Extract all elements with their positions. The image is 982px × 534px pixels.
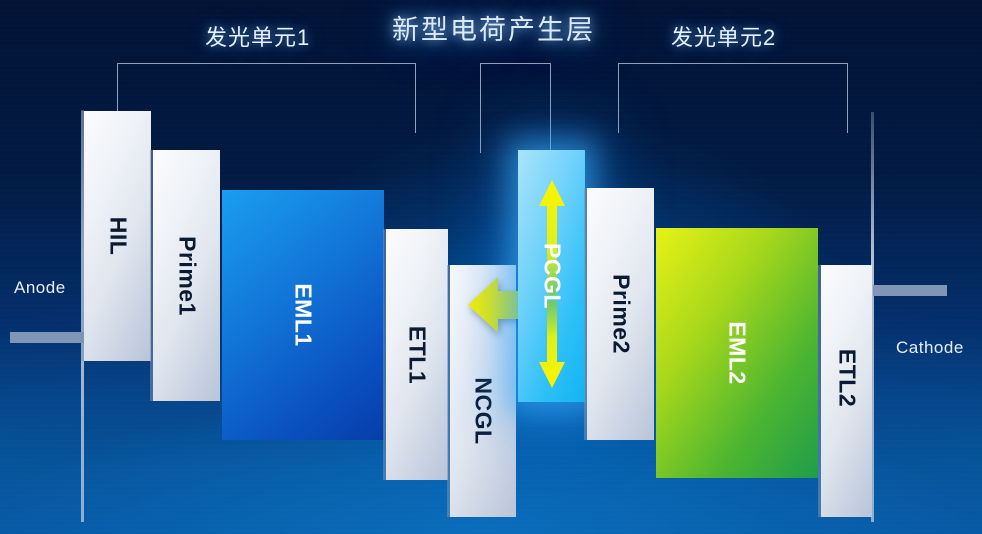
layer-etl2-label: ETL2 [833,349,860,407]
oled-stack-diagram: 发光单元1 新型电荷产生层 发光单元2 Anode Cathode HIL Pr… [0,0,982,534]
layer-eml1[interactable]: EML1 [222,190,384,440]
arrow-down-icon [538,300,566,388]
bracket-charge-generation-layer [480,63,551,153]
bracket-unit-2 [618,63,848,133]
layer-hil[interactable]: HIL [84,111,151,361]
layer-prime1[interactable]: Prime1 [153,150,220,401]
layer-eml1-label: EML1 [290,283,317,346]
anode-label: Anode [14,278,66,298]
layer-etl1[interactable]: ETL1 [386,229,448,480]
cathode-label: Cathode [896,338,964,358]
cathode-pad [873,285,947,296]
layer-etl2[interactable]: ETL2 [821,265,872,517]
emitting-unit-1-label: 发光单元1 [205,20,310,52]
layer-prime2[interactable]: Prime2 [587,188,654,440]
layer-hil-label: HIL [104,217,131,256]
layer-pcgl[interactable]: PCGL [518,150,585,402]
layer-ncgl-label: NCGL [470,378,497,445]
layer-prime1-label: Prime1 [173,236,200,316]
emitting-unit-2-label: 发光单元2 [671,20,776,52]
layer-prime2-label: Prime2 [607,274,634,354]
diagram-title: 新型电荷产生层 [392,8,595,47]
layer-eml2[interactable]: EML2 [656,228,818,478]
anode-pad [10,332,84,343]
bracket-unit-1 [117,63,416,133]
layer-etl1-label: ETL1 [404,325,431,383]
layer-eml2-label: EML2 [724,321,751,384]
